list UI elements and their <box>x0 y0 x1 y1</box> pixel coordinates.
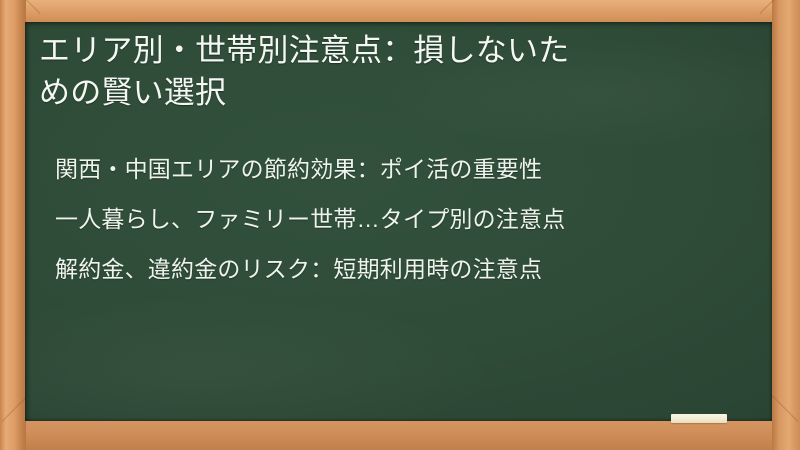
bullet-item: 解約金、違約金のリスク：短期利用時の注意点 <box>55 244 758 294</box>
slide-title: エリア別・世帯別注意点：損しないた めの賢い選択 <box>39 30 760 114</box>
bullet-list: 関西・中国エリアの節約効果：ポイ活の重要性 一人暮らし、ファミリー世帯…タイプ別… <box>55 144 758 294</box>
frame-right-rail <box>772 0 800 450</box>
frame-left-rail <box>0 0 26 450</box>
frame-bottom-rail <box>0 421 800 450</box>
bullet-item: 一人暮らし、ファミリー世帯…タイプ別の注意点 <box>55 194 758 244</box>
chalk-stick-icon <box>671 414 727 423</box>
chalkboard-slide: エリア別・世帯別注意点：損しないた めの賢い選択 関西・中国エリアの節約効果：ポ… <box>0 0 800 450</box>
frame-top-rail <box>0 0 800 22</box>
board-content: エリア別・世帯別注意点：損しないた めの賢い選択 関西・中国エリアの節約効果：ポ… <box>25 22 772 421</box>
bullet-item: 関西・中国エリアの節約効果：ポイ活の重要性 <box>55 144 758 194</box>
chalkboard-surface: エリア別・世帯別注意点：損しないた めの賢い選択 関西・中国エリアの節約効果：ポ… <box>25 22 772 421</box>
